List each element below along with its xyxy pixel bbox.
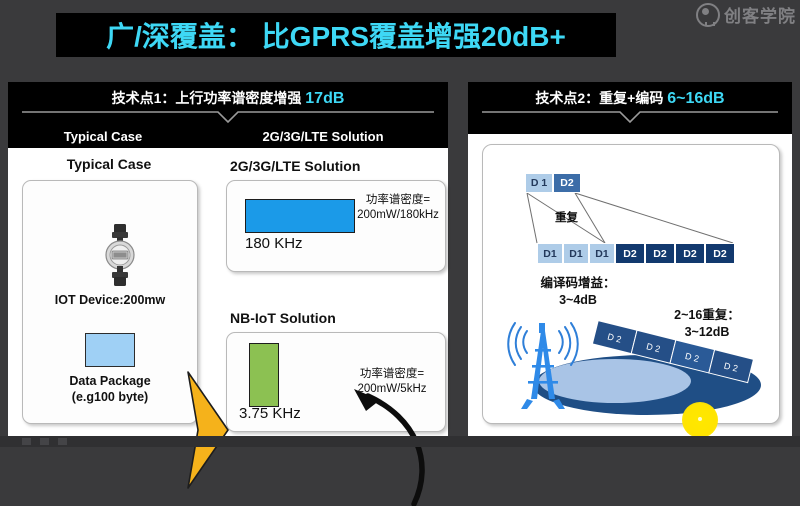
- expanded-block: D2: [615, 243, 645, 264]
- nbiot-psd-line1: 功率谱密度=: [360, 368, 424, 380]
- right-panel-header: 技术点2：重复+编码 6~16dB: [468, 82, 792, 134]
- cursor-highlight-dot: [682, 402, 718, 438]
- left-header-value: 17dB: [305, 90, 344, 107]
- stop-control-icon[interactable]: [40, 438, 49, 445]
- bottom-strip: [0, 436, 800, 447]
- yellow-right-chevron-icon: [184, 370, 230, 490]
- legacy-bandwidth-label: 180 KHz: [245, 235, 363, 252]
- expanded-block: D1: [589, 243, 615, 264]
- left-content-card: Typical Case IOT Device:200mw Data Packa…: [8, 148, 448, 436]
- cell-tower-icon: D 2 D 2 D 2 D 2: [497, 313, 769, 421]
- next-control-icon[interactable]: [58, 438, 67, 445]
- coding-gain-line1: 编译码增益：: [540, 276, 615, 290]
- typical-case-title: Typical Case: [16, 156, 202, 172]
- slide-title-bar: 广/深覆盖： 比GPRS覆盖增强20dB+: [56, 13, 616, 57]
- data-package-swatch: [85, 333, 135, 367]
- expanded-block: D1: [563, 243, 589, 264]
- brace-icon: [482, 110, 778, 124]
- left-panel-subheaders: Typical Case 2G/3G/LTE Solution: [8, 129, 448, 144]
- left-panel-header-title: 技术点1：上行功率谱密度增强 17dB: [8, 88, 448, 108]
- play-control-icon[interactable]: [22, 438, 31, 445]
- typical-case-box: IOT Device:200mw Data Package (e.g100 by…: [22, 180, 198, 424]
- slide-stage: 创客学院 广/深覆盖： 比GPRS覆盖增强20dB+ 技术点1：上行功率谱密度增…: [0, 0, 800, 447]
- iot-device-label: IOT Device:200mw: [31, 293, 189, 307]
- source-block: D2: [553, 173, 581, 193]
- nbiot-bandwidth-bar: [249, 343, 279, 407]
- watermark-text: 创客学院: [724, 2, 796, 27]
- data-package-label-line2: (e.g100 byte): [72, 390, 148, 404]
- right-header-value: 6~16dB: [667, 90, 724, 107]
- expanded-block: D2: [675, 243, 705, 264]
- expanded-block: D2: [705, 243, 735, 264]
- expanded-block: D1: [537, 243, 563, 264]
- right-diagram-box: D 1 D2 重复 D1 D1 D1 D2 D2 D2 D2 编译码增益： 3~…: [482, 144, 780, 424]
- repeat-label: 重复: [555, 209, 578, 225]
- lightbulb-icon: [696, 3, 720, 27]
- left-header-label: 技术点1：上行功率谱密度增强: [112, 90, 302, 106]
- page-title: 广/深覆盖： 比GPRS覆盖增强20dB+: [106, 15, 566, 55]
- watermark: 创客学院: [696, 2, 796, 27]
- water-meter-icon: [99, 224, 141, 286]
- legacy-bandwidth-bar: [245, 199, 355, 233]
- nbiot-solution-title: NB-IoT Solution: [230, 310, 336, 326]
- legacy-psd-annotation: 功率谱密度= 200mW/180kHz: [355, 193, 441, 223]
- data-package-label: Data Package (e.g100 byte): [31, 373, 189, 405]
- right-content-card: D 1 D2 重复 D1 D1 D1 D2 D2 D2 D2 编译码增益： 3~…: [468, 134, 792, 436]
- coding-gain-label: 编译码增益： 3~4dB: [513, 275, 643, 309]
- left-panel-header: 技术点1：上行功率谱密度增强 17dB Typical Case 2G/3G/L…: [8, 82, 448, 148]
- right-header-label: 技术点2：重复+编码: [535, 90, 663, 106]
- legacy-psd-line1: 功率谱密度=: [366, 194, 430, 206]
- brace-icon: [22, 110, 434, 124]
- right-panel-header-title: 技术点2：重复+编码 6~16dB: [468, 88, 792, 108]
- coding-gain-line2: 3~4dB: [559, 293, 597, 307]
- data-package-label-line1: Data Package: [69, 374, 150, 388]
- nbiot-bandwidth-label: 3.75 KHz: [239, 405, 349, 422]
- legacy-solution-title: 2G/3G/LTE Solution: [230, 158, 360, 174]
- subheader-solution: 2G/3G/LTE Solution: [198, 129, 448, 144]
- legacy-solution-box: 180 KHz 功率谱密度= 200mW/180kHz: [226, 180, 446, 272]
- source-block: D 1: [525, 173, 553, 193]
- subheader-typical-case: Typical Case: [8, 129, 198, 144]
- expanded-block: D2: [645, 243, 675, 264]
- legacy-psd-line2: 200mW/180kHz: [357, 209, 439, 221]
